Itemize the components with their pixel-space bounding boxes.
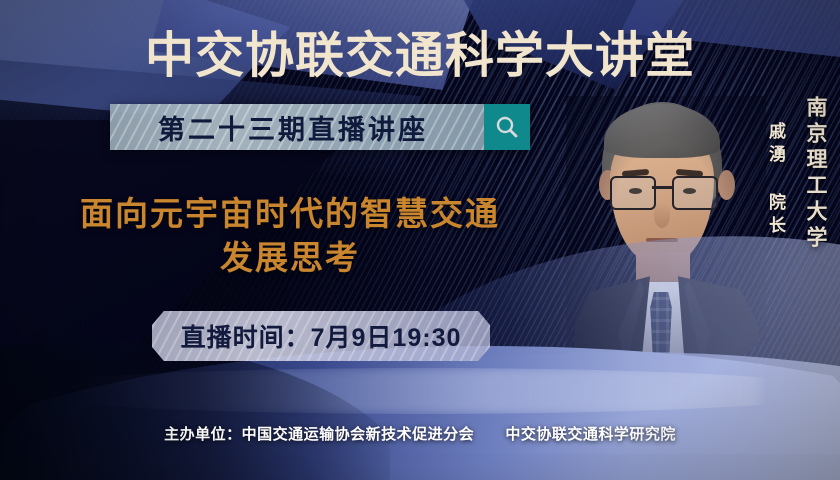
- portrait-illustration: [566, 96, 766, 386]
- footer-organizer-primary: 主办单位：中国交通运输协会新技术促进分会: [164, 426, 474, 443]
- broadcast-time-text: 直播时间：7月9日19:30: [181, 318, 462, 354]
- episode-label: 第二十三期直播讲座: [110, 104, 484, 150]
- search-button[interactable]: [484, 104, 530, 150]
- page-title: 中交协联交通科学大讲堂: [0, 16, 840, 87]
- lecture-topic-line2: 发展思考: [20, 236, 560, 280]
- speaker-name-title: 戚湧 院长: [763, 122, 788, 239]
- portrait-shading: [566, 96, 766, 386]
- speaker-affiliation: 南京理工大学: [800, 96, 830, 252]
- speaker-info: 戚湧 院长 南京理工大学: [763, 96, 830, 252]
- lecture-topic: 面向元宇宙时代的智慧交通 发展思考: [20, 192, 560, 280]
- search-icon: [494, 114, 520, 140]
- speaker-portrait: [566, 96, 766, 386]
- footer-organizers: 主办单位：中国交通运输协会新技术促进分会 中交协联交通科学研究院: [0, 423, 840, 444]
- broadcast-time-badge: 直播时间：7月9日19:30: [152, 311, 490, 361]
- lecture-topic-line1: 面向元宇宙时代的智慧交通: [20, 192, 560, 236]
- episode-banner: 第二十三期直播讲座: [110, 104, 530, 150]
- footer-organizer-secondary: 中交协联交通科学研究院: [505, 426, 676, 443]
- webinar-poster: 中交协联交通科学大讲堂 第二十三期直播讲座 面向元宇宙时代的智慧交通 发展思考 …: [0, 0, 840, 480]
